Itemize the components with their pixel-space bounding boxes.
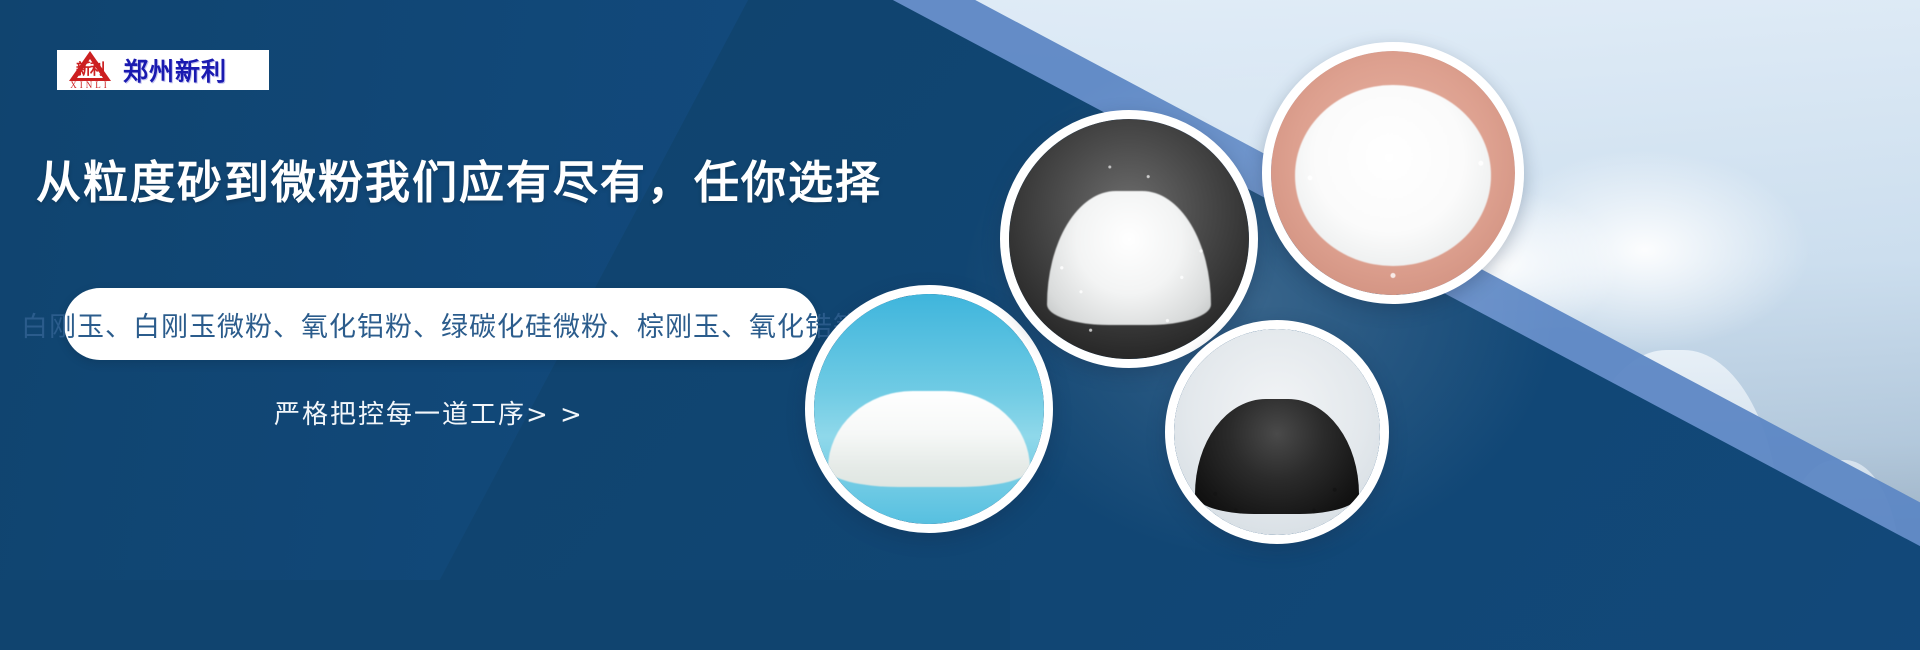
product-list-text: 白刚玉、白刚玉微粉、氧化铝粉、绿碳化硅微粉、棕刚玉、氧化锆等: [21, 305, 861, 344]
headline: 从粒度砂到微粉我们应有尽有，任你选择: [36, 146, 882, 211]
triangle-logo-icon: 新利 XINLI: [59, 50, 121, 90]
logo-mark-en: XINLI: [59, 81, 121, 90]
product-photo-white-granules-dark-tray[interactable]: [1000, 110, 1258, 368]
company-logo[interactable]: 新利 XINLI 郑州新利: [57, 50, 269, 90]
promo-banner: 新利 XINLI 郑州新利 从粒度砂到微粉我们应有尽有，任你选择 白刚玉、白刚玉…: [0, 0, 1920, 650]
product-photo-white-micro-powder-dish[interactable]: [1262, 42, 1524, 304]
product-photo-black-grit-cone[interactable]: [1165, 320, 1389, 544]
tagline-link[interactable]: 严格把控每一道工序> >: [274, 394, 584, 431]
product-photo-white-powder-cone-cyan[interactable]: [805, 285, 1053, 533]
bottom-color-band: [0, 580, 1010, 650]
logo-mark-cn: 新利: [64, 62, 116, 77]
logo-company-name: 郑州新利: [123, 52, 227, 88]
product-list-pill[interactable]: 白刚玉、白刚玉微粉、氧化铝粉、绿碳化硅微粉、棕刚玉、氧化锆等: [64, 288, 818, 360]
